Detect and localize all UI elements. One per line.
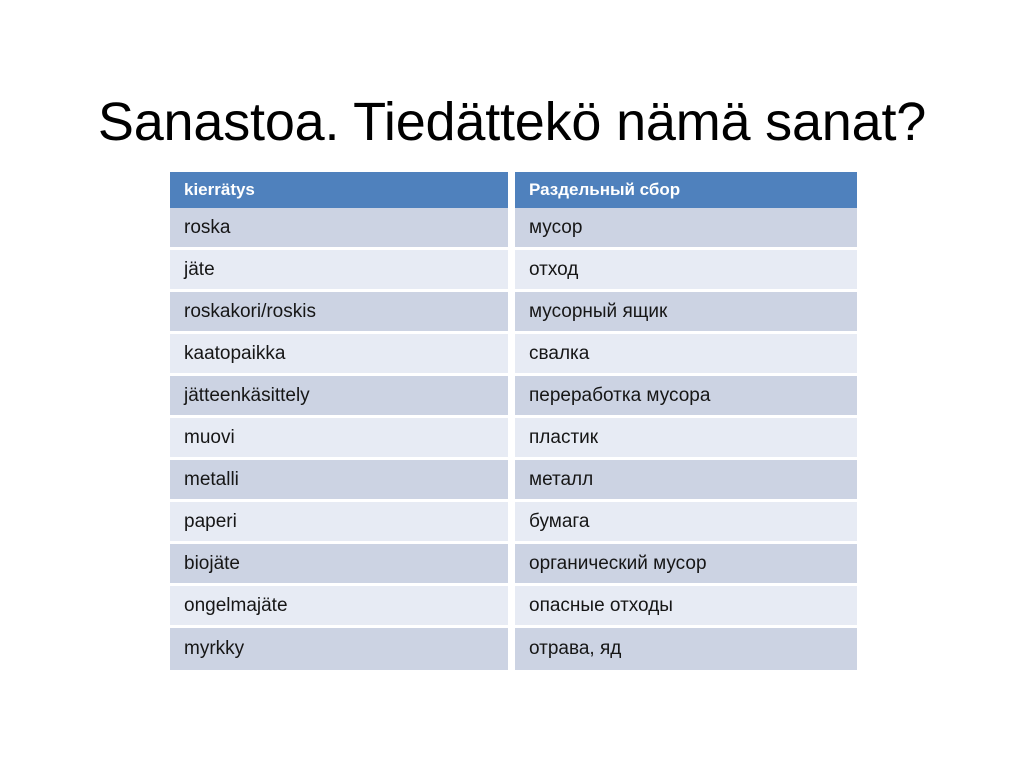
cell-russian: переработка мусора (515, 376, 857, 418)
cell-russian: мусорный ящик (515, 292, 857, 334)
cell-russian: мусор (515, 208, 857, 250)
table-row: myrkky отрава, яд (170, 628, 857, 670)
cell-russian: бумага (515, 502, 857, 544)
table-row: jäte отход (170, 250, 857, 292)
cell-finnish: paperi (170, 502, 515, 544)
cell-russian: отрава, яд (515, 628, 857, 670)
table-body: roska мусор jäte отход roskakori/roskis … (170, 208, 857, 670)
table-row: paperi бумага (170, 502, 857, 544)
cell-finnish: ongelmajäte (170, 586, 515, 628)
cell-russian: отход (515, 250, 857, 292)
table-row: muovi пластик (170, 418, 857, 460)
cell-russian: опасные отходы (515, 586, 857, 628)
cell-finnish: biojäte (170, 544, 515, 586)
cell-finnish: jätteenkäsittely (170, 376, 515, 418)
table-row: biojäte органический мусор (170, 544, 857, 586)
cell-russian: органический мусор (515, 544, 857, 586)
table-header: kierrätys Раздельный сбор (170, 172, 857, 208)
slide: Sanastoa. Tiedättekö nämä sanat? kierrät… (0, 0, 1024, 767)
table-row: metalli металл (170, 460, 857, 502)
column-header-finnish: kierrätys (170, 172, 515, 208)
cell-finnish: kaatopaikka (170, 334, 515, 376)
cell-finnish: muovi (170, 418, 515, 460)
column-header-russian: Раздельный сбор (515, 172, 857, 208)
table-row: ongelmajäte опасные отходы (170, 586, 857, 628)
cell-finnish: jäte (170, 250, 515, 292)
cell-finnish: myrkky (170, 628, 515, 670)
cell-russian: свалка (515, 334, 857, 376)
cell-finnish: roskakori/roskis (170, 292, 515, 334)
cell-russian: пластик (515, 418, 857, 460)
vocabulary-table: kierrätys Раздельный сбор roska мусор jä… (170, 172, 857, 670)
table-row: jätteenkäsittely переработка мусора (170, 376, 857, 418)
table-row: kaatopaikka свалка (170, 334, 857, 376)
cell-finnish: roska (170, 208, 515, 250)
table-row: roskakori/roskis мусорный ящик (170, 292, 857, 334)
page-title: Sanastoa. Tiedättekö nämä sanat? (0, 92, 1024, 152)
cell-finnish: metalli (170, 460, 515, 502)
cell-russian: металл (515, 460, 857, 502)
table-row: roska мусор (170, 208, 857, 250)
table-header-row: kierrätys Раздельный сбор (170, 172, 857, 208)
